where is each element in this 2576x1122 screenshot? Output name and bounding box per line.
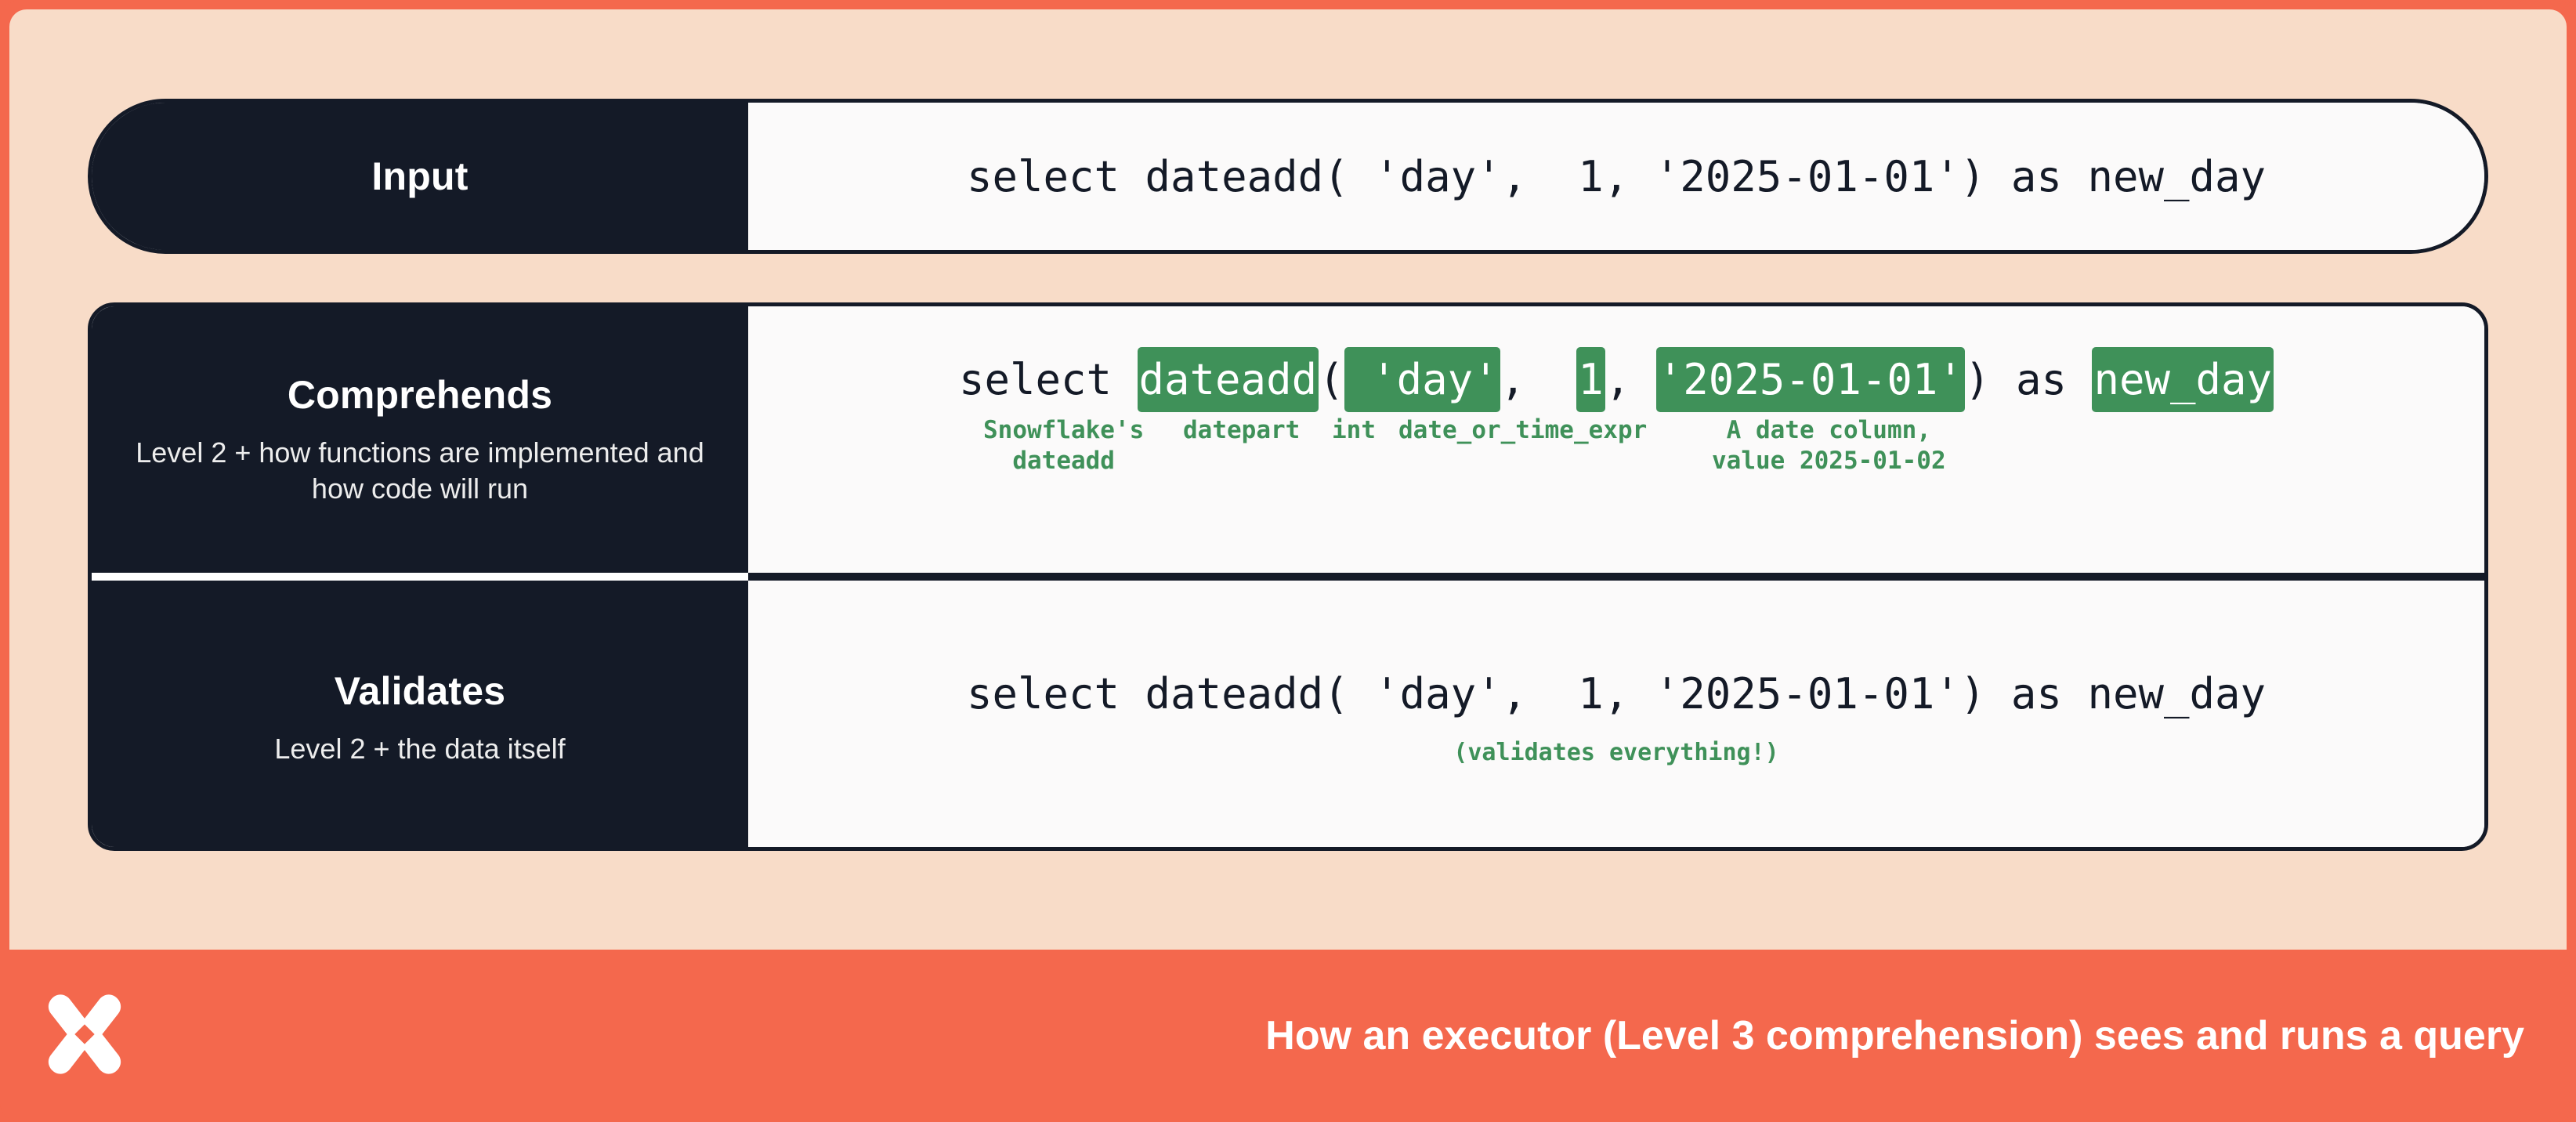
code-annotation: A date column, value 2025-01-02 xyxy=(1712,415,1946,477)
rows-divider-left xyxy=(92,573,748,581)
row-validates-label-pane: Validates Level 2 + the data itself xyxy=(92,581,748,851)
row-input: Input select dateadd( 'day', 1, '2025-01… xyxy=(88,99,2488,254)
code-token-highlighted: 'day' xyxy=(1344,347,1500,412)
row-comprehends-code-pane: select dateadd( 'day', 1, '2025-01-01') … xyxy=(748,306,2484,573)
row-comprehends-subtitle: Level 2 + how functions are implemented … xyxy=(125,435,715,507)
row-comprehends-title: Comprehends xyxy=(288,372,552,418)
code-token: , xyxy=(1500,355,1577,404)
row-input-label-pane: Input xyxy=(92,103,748,250)
code-annotation: datepart xyxy=(1183,415,1300,447)
code-token-highlighted: 1 xyxy=(1576,347,1605,412)
rows-lower-card: Comprehends Level 2 + how functions are … xyxy=(88,302,2488,851)
code-token: ( xyxy=(1319,355,1344,404)
footer-bar: How an executor (Level 3 comprehension) … xyxy=(0,950,2576,1122)
code-annotation: Snowflake's dateadd xyxy=(983,415,1144,477)
rows-stack: Input select dateadd( 'day', 1, '2025-01… xyxy=(88,99,2488,851)
code-token: select xyxy=(959,355,1138,404)
row-comprehends-annotations: Snowflake's dateadddatepartintdate_or_ti… xyxy=(748,415,2484,525)
code-token-highlighted: dateadd xyxy=(1138,347,1319,412)
row-validates-subtitle: Level 2 + the data itself xyxy=(274,731,565,767)
row-comprehends-label-pane: Comprehends Level 2 + how functions are … xyxy=(92,306,748,573)
x-star-logo-icon xyxy=(41,990,128,1078)
rows-divider-right xyxy=(748,573,2484,581)
row-validates-code-pane: select dateadd( 'day', 1, '2025-01-01') … xyxy=(748,581,2484,851)
row-input-code-pane: select dateadd( 'day', 1, '2025-01-01') … xyxy=(748,103,2484,250)
row-validates-code: select dateadd( 'day', 1, '2025-01-01') … xyxy=(967,669,2266,718)
code-token: , xyxy=(1605,355,1656,404)
row-validates-title: Validates xyxy=(335,668,506,714)
row-validates: Validates Level 2 + the data itself sele… xyxy=(92,581,2484,851)
row-comprehends: Comprehends Level 2 + how functions are … xyxy=(92,306,2484,573)
code-token: ) as xyxy=(1965,355,2093,404)
poster-frame: Input select dateadd( 'day', 1, '2025-01… xyxy=(0,0,2576,1122)
code-annotation: date_or_time_expr xyxy=(1398,415,1647,447)
row-comprehends-code: select dateadd( 'day', 1, '2025-01-01') … xyxy=(959,355,2274,404)
row-input-code: select dateadd( 'day', 1, '2025-01-01') … xyxy=(967,152,2266,201)
code-token-highlighted: new_day xyxy=(2092,347,2274,412)
code-annotation: int xyxy=(1332,415,1376,447)
row-validates-annotation: (validates everything!) xyxy=(1453,739,1778,766)
rows-divider xyxy=(92,573,2484,581)
poster-canvas: Input select dateadd( 'day', 1, '2025-01… xyxy=(9,9,2567,959)
footer-caption: How an executor (Level 3 comprehension) … xyxy=(1265,1012,2524,1059)
row-input-title: Input xyxy=(371,154,468,199)
code-token-highlighted: '2025-01-01' xyxy=(1656,347,1965,412)
